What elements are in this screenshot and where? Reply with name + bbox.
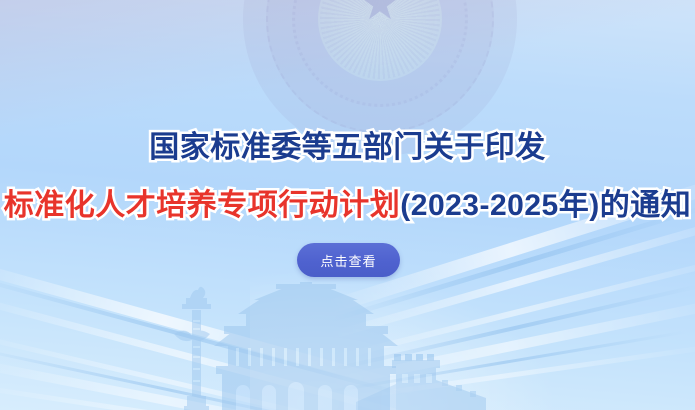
huabiao-column-silhouette bbox=[174, 287, 211, 410]
ray-right-4 bbox=[329, 298, 695, 388]
ray-glow bbox=[250, 250, 590, 410]
ray-left-3 bbox=[0, 330, 447, 410]
announcement-banner: ★ bbox=[0, 0, 695, 410]
title-suffix: (2023-2025年)的通知 bbox=[400, 189, 691, 222]
great-wall-tower-silhouette bbox=[356, 354, 486, 410]
ray-right-5 bbox=[330, 345, 695, 403]
ray-left-blue-2 bbox=[0, 344, 381, 410]
view-details-button[interactable]: 点击查看 bbox=[297, 243, 400, 277]
ray-left-blue-1 bbox=[0, 272, 404, 396]
ray-right-blue-2 bbox=[330, 284, 695, 372]
ray-right-blue-3 bbox=[330, 331, 686, 393]
emblem-disc-center bbox=[318, 0, 442, 81]
ray-left-5 bbox=[0, 382, 386, 410]
title-highlight: 标准化人才培养专项行动计划 bbox=[4, 189, 401, 222]
emblem-radial-rays bbox=[320, 0, 440, 79]
title-line-2: 标准化人才培养专项行动计划(2023-2025年)的通知 bbox=[0, 180, 695, 224]
ray-left-1 bbox=[0, 258, 414, 394]
ray-left-4 bbox=[0, 356, 422, 410]
architecture-silhouette-group bbox=[0, 280, 695, 410]
ray-left-2 bbox=[0, 292, 463, 410]
tiananmen-gate-silhouette bbox=[214, 282, 398, 410]
emblem-ring-mid-inner bbox=[292, 0, 468, 107]
emblem-ring-mid-outer bbox=[266, 0, 494, 133]
title-line-1: 国家标准委等五部门关于印发 bbox=[0, 122, 695, 166]
